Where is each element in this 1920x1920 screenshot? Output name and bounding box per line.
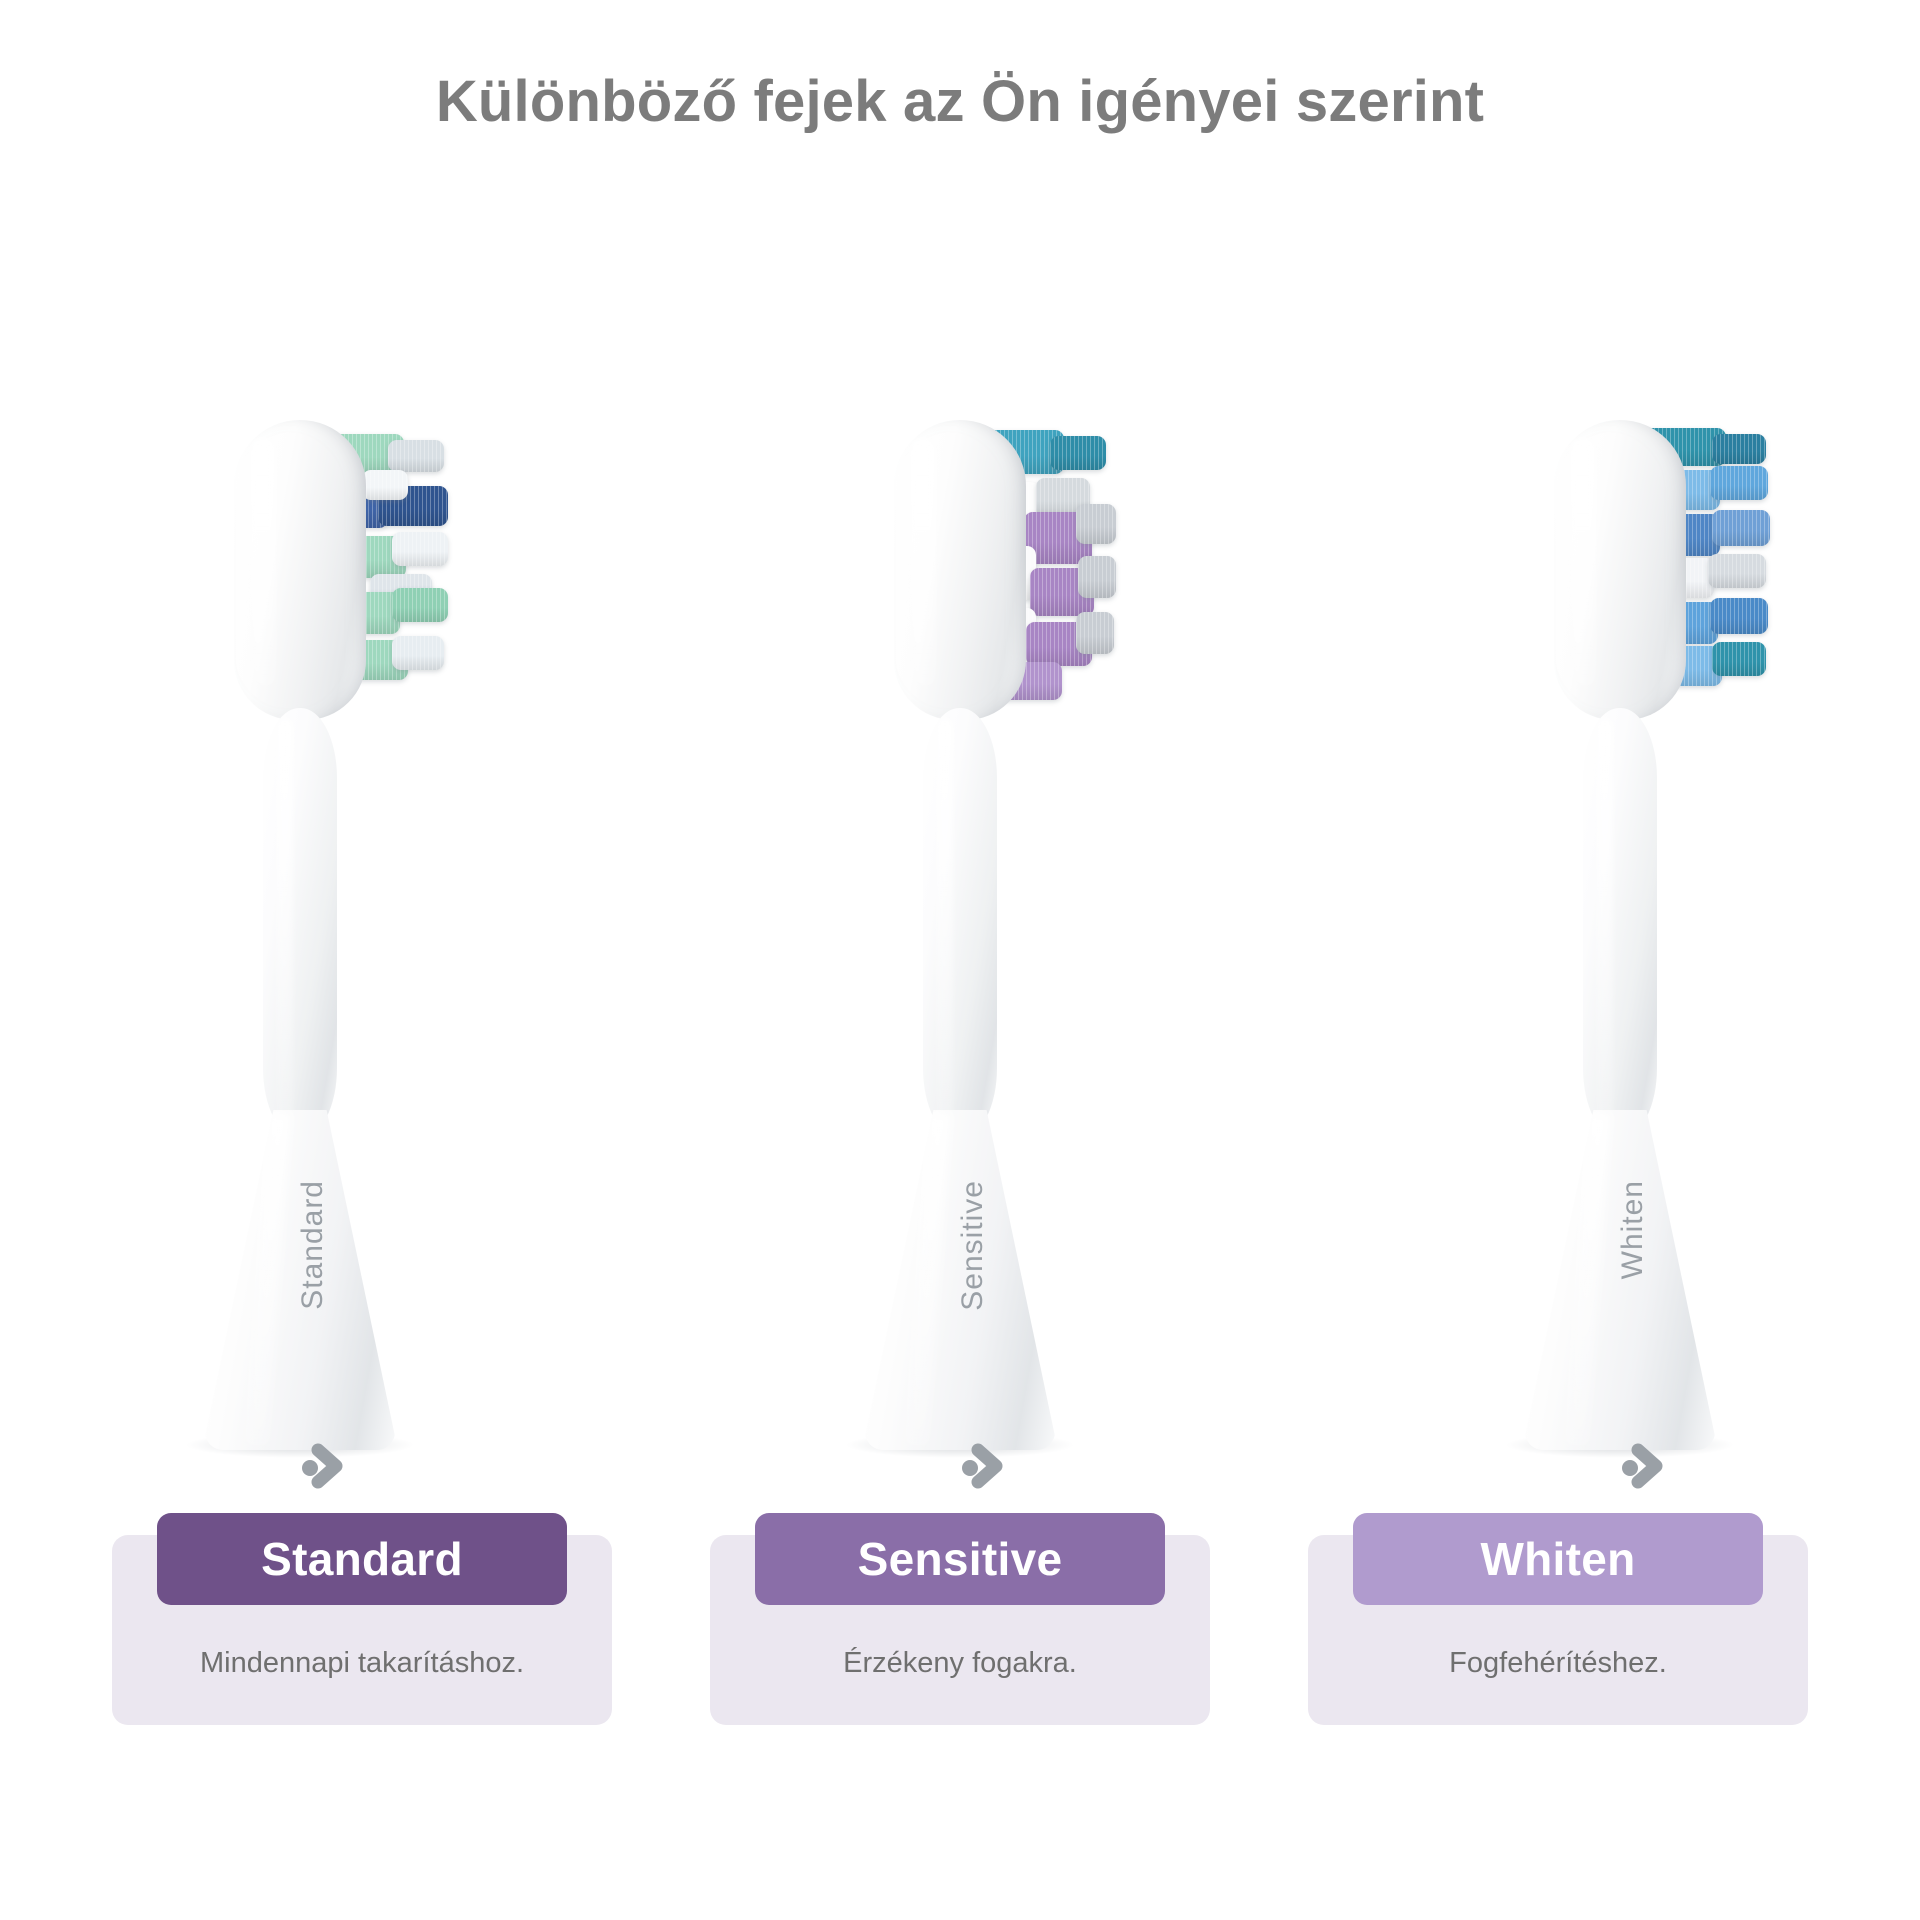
bristle-tuft	[392, 636, 444, 670]
brush-head-shell	[1554, 420, 1686, 720]
brush-standard[interactable]: Standard	[90, 420, 510, 1460]
bristle-tuft	[1712, 434, 1766, 464]
brush-neck	[263, 708, 337, 1138]
brush-sensitive[interactable]: Sensitive	[750, 420, 1170, 1460]
bristle-tuft	[1050, 436, 1106, 470]
handle-label-whiten: Whiten	[1616, 1180, 1650, 1279]
bristle-tuft	[1712, 510, 1770, 546]
bristle-tuft	[1076, 504, 1116, 544]
brush-head-shell	[234, 420, 366, 720]
bristle-tuft	[392, 588, 448, 622]
card-title-sensitive: Sensitive	[755, 1513, 1165, 1605]
brush-heads-row: Standard Sensitive	[0, 420, 1920, 1460]
brand-chevron-logo	[958, 1438, 1014, 1494]
page-title: Különböző fejek az Ön igényei szerint	[0, 68, 1920, 135]
brand-chevron-logo	[298, 1438, 354, 1494]
bristle-tuft	[392, 532, 448, 566]
bristle-tuft	[1710, 598, 1768, 634]
bristle-tuft	[388, 440, 444, 472]
card-standard[interactable]: Standard Mindennapi takarításhoz.	[112, 1535, 612, 1725]
bristle-tuft	[1078, 556, 1116, 598]
bristle-tuft	[1712, 642, 1766, 676]
card-description-sensitive: Érzékeny fogakra.	[710, 1647, 1210, 1680]
bristle-tuft	[1708, 554, 1766, 588]
brush-whiten[interactable]: Whiten	[1410, 420, 1830, 1460]
brush-neck	[1583, 708, 1657, 1138]
card-whiten[interactable]: Whiten Fogfehérítéshez.	[1308, 1535, 1808, 1725]
card-title-standard: Standard	[157, 1513, 567, 1605]
brand-chevron-logo	[1618, 1438, 1674, 1494]
handle-label-standard: Standard	[296, 1180, 330, 1310]
bristle-tuft	[1076, 612, 1114, 654]
brush-head-shell	[894, 420, 1026, 720]
feature-cards-row: Standard Mindennapi takarításhoz. Sensit…	[0, 1505, 1920, 1725]
card-title-whiten: Whiten	[1353, 1513, 1763, 1605]
bristle-tuft	[1710, 466, 1768, 500]
brush-base	[1525, 1110, 1715, 1450]
card-sensitive[interactable]: Sensitive Érzékeny fogakra.	[710, 1535, 1210, 1725]
card-description-standard: Mindennapi takarításhoz.	[112, 1647, 612, 1680]
product-infographic: Különböző fejek az Ön igényei szerint St…	[0, 0, 1920, 1920]
card-description-whiten: Fogfehérítéshez.	[1308, 1647, 1808, 1680]
brush-neck	[923, 708, 997, 1138]
bristle-tuft	[362, 470, 408, 500]
handle-label-sensitive: Sensitive	[956, 1180, 990, 1311]
